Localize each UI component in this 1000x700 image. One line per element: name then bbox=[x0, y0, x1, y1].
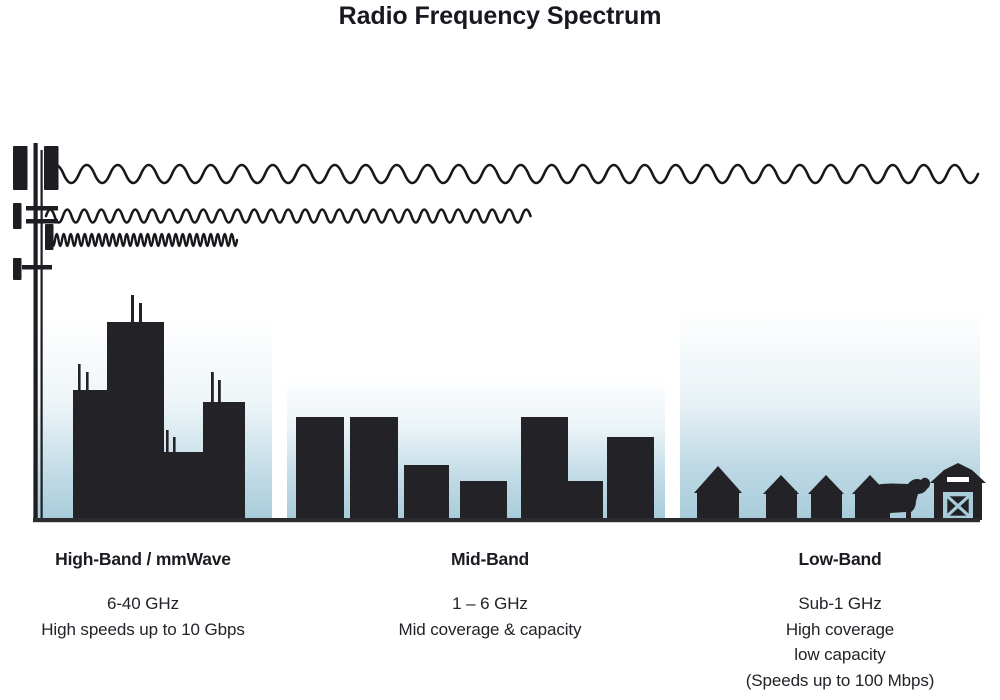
band-line: Mid coverage & capacity bbox=[365, 617, 615, 643]
band-line: 6-40 GHz bbox=[18, 591, 268, 617]
band-line: (Speeds up to 100 Mbps) bbox=[715, 668, 965, 694]
band-line: Sub-1 GHz bbox=[715, 591, 965, 617]
band-label-mid-band: Mid-Band bbox=[365, 549, 615, 570]
low-frequency-wave-icon bbox=[48, 165, 978, 183]
band-line: High coverage bbox=[715, 617, 965, 643]
radio-waves bbox=[46, 165, 978, 246]
band-label-low-band: Low-Band bbox=[715, 549, 965, 570]
band-line: 1 – 6 GHz bbox=[365, 591, 615, 617]
band-desc-low-band: Sub-1 GHz High coverage low capacity (Sp… bbox=[715, 591, 965, 693]
band-line: High speeds up to 10 Gbps bbox=[18, 617, 268, 643]
band-desc-mid-band: 1 – 6 GHz Mid coverage & capacity bbox=[365, 591, 615, 642]
ground-line bbox=[33, 518, 980, 522]
band-line: low capacity bbox=[715, 642, 965, 668]
band-label-high-band: High-Band / mmWave bbox=[18, 549, 268, 570]
infographic-root: Radio Frequency Spectrum bbox=[0, 0, 1000, 700]
mid-frequency-wave-icon bbox=[46, 210, 531, 223]
high-frequency-wave-icon bbox=[48, 234, 237, 246]
band-desc-high-band: 6-40 GHz High speeds up to 10 Gbps bbox=[18, 591, 268, 642]
